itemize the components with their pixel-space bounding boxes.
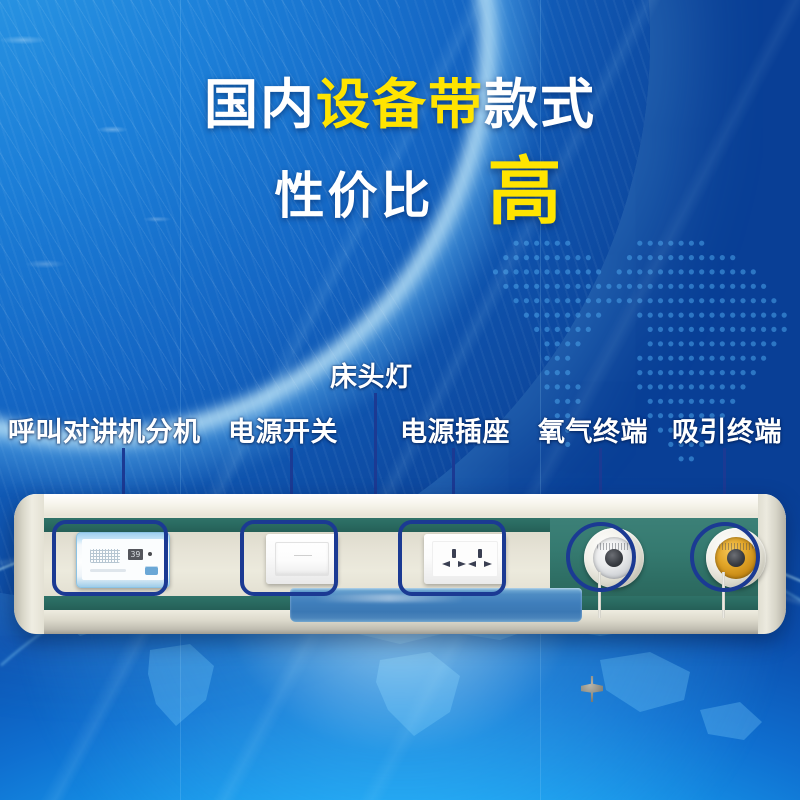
callout-label-power-socket: 电源插座 — [400, 410, 510, 449]
highlight-box-intercom — [52, 520, 168, 596]
panel-end-cap-left — [14, 494, 44, 634]
callout-label-suction-terminal: 吸引终端 — [672, 410, 782, 449]
callout-label-bedside-lamp: 床头灯 — [330, 355, 413, 394]
diagonal-light-streaks — [0, 0, 800, 800]
background-vertical-line-1 — [540, 0, 541, 800]
callout-label-intercom: 呼叫对讲机分机 — [8, 410, 201, 449]
highlight-box-power-switch — [240, 520, 338, 596]
callout-label-power-switch: 电源开关 — [228, 410, 338, 449]
callout-label-oxygen-terminal: 氧气终端 — [538, 410, 648, 449]
panel-top-edge — [24, 494, 776, 516]
promo-banner: 国内设备带款式 性价比 高 呼叫对讲机分机 电源开关 床头灯 电源插座 氧气终端… — [0, 0, 800, 800]
background-vertical-line-2 — [180, 0, 181, 800]
highlight-circle-oxygen — [566, 522, 636, 592]
highlight-circle-suction — [690, 522, 760, 592]
highlight-box-power-socket — [398, 520, 506, 596]
